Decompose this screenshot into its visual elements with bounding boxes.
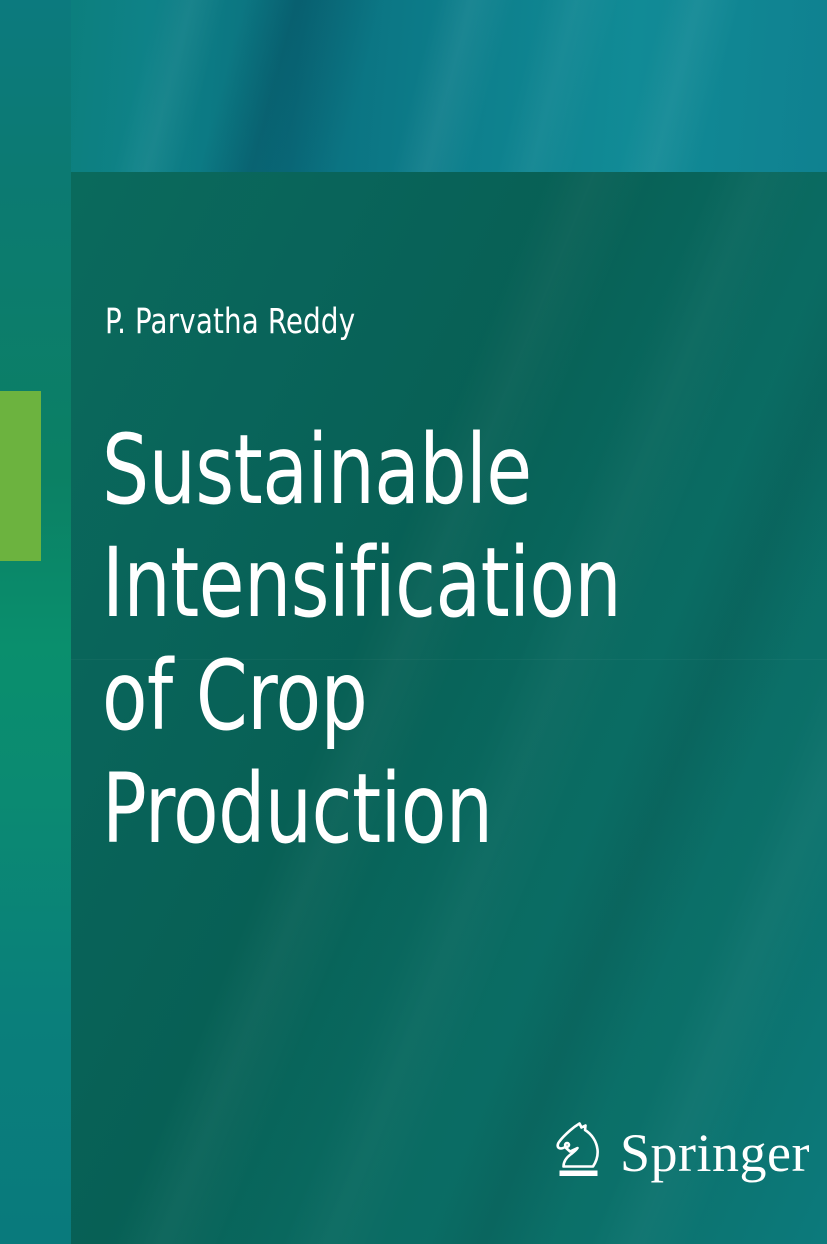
springer-knight-icon	[548, 1118, 608, 1184]
author-name: P. Parvatha Reddy	[105, 302, 355, 342]
header-band	[0, 0, 827, 172]
title-line-4: Production	[102, 753, 670, 866]
left-accent-strip	[0, 0, 71, 1244]
header-band-streaks	[0, 0, 827, 172]
springer-wordmark: Springer	[620, 1126, 810, 1180]
title-line-2: Intensification	[102, 527, 670, 640]
springer-logo: Springer	[548, 1118, 810, 1184]
book-title: Sustainable Intensification of Crop Prod…	[102, 414, 762, 866]
title-line-3: of Crop	[102, 640, 670, 753]
title-line-1: Sustainable	[102, 414, 670, 527]
green-accent-block	[0, 391, 41, 561]
book-cover: P. Parvatha Reddy Sustainable Intensific…	[0, 0, 827, 1244]
